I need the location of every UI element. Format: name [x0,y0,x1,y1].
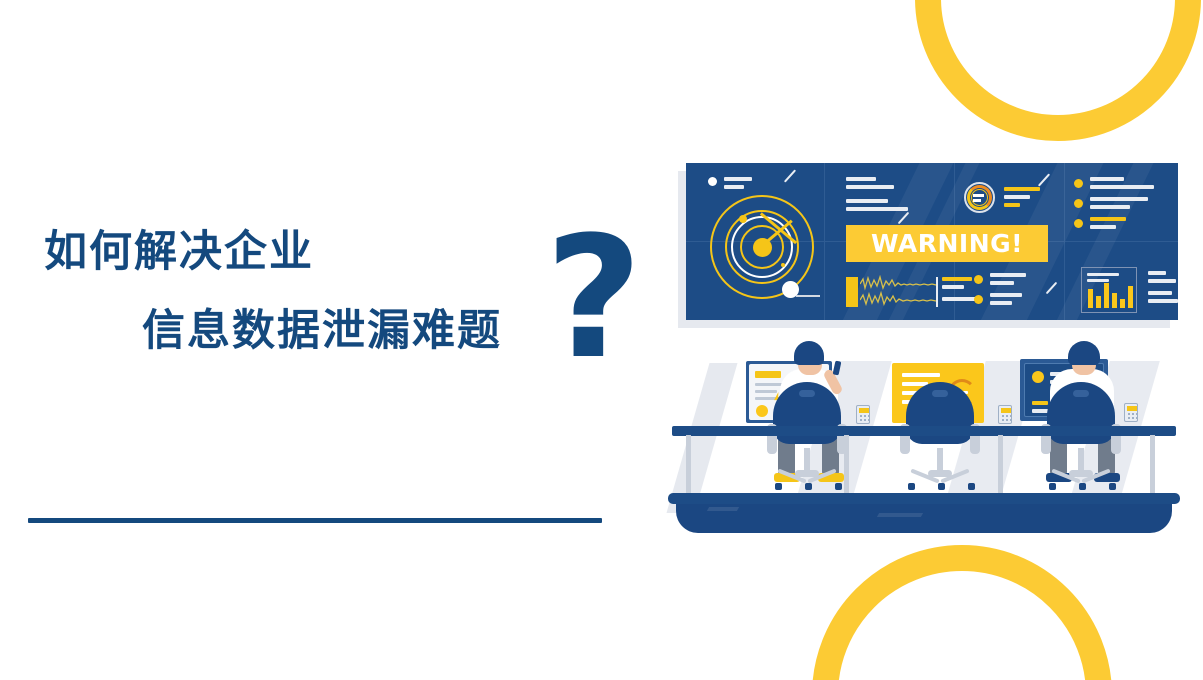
list-line [990,293,1022,297]
chart-side-line [1148,271,1166,275]
text-line [846,185,894,189]
wave-line [942,297,976,301]
text-line [846,177,876,181]
monitor-dot-icon [1032,371,1044,383]
wave-line [942,285,964,289]
list-line [1090,197,1148,201]
waveform-svg [860,275,938,309]
chair-left [773,382,845,492]
chart-bar [1128,286,1133,308]
gauge-line [1004,187,1040,191]
gauge-line [1004,195,1030,199]
bar-chart-panel [1081,267,1137,313]
chart-side-line [1148,299,1178,303]
chart-side-line [1148,279,1176,283]
monitor-wall: WARNING! [686,163,1178,320]
desk-phone-right [1124,403,1138,422]
chart-bar [1120,299,1125,308]
list-line [1090,185,1154,189]
title-line-2: 信息数据泄漏难题 [142,310,502,353]
chart-bar [1104,283,1109,308]
list-line [990,273,1026,277]
text-line [846,199,888,203]
list-bullet-icon [974,275,983,284]
list-line [990,301,1012,305]
desk-phone-center [998,405,1012,424]
list-line [1090,205,1130,209]
radar-scan-widget [708,185,818,307]
floor-platform-top [668,493,1180,504]
yellow-ring-bottom-right-icon [812,545,1112,680]
desk-phone-left [856,405,870,424]
list-line [1090,177,1124,181]
chair-right [1047,382,1119,492]
chart-bar [1088,289,1093,308]
floor-shadow [666,363,737,513]
chart-title-line [1087,279,1109,282]
warning-banner-text: WARNING! [871,229,1023,258]
question-mark-icon: ? [545,214,642,382]
chart-bar [1096,296,1101,308]
gauge-line [1004,203,1020,207]
chart-bar [1112,293,1117,308]
desk-surface [672,426,1176,436]
header-line [724,177,752,181]
list-bullet-icon [1074,199,1083,208]
title-line-1: 如何解决企业 [44,231,314,274]
security-operations-illustration: WARNING! [668,163,1188,523]
list-bullet-icon [974,295,983,304]
accent-slash [1046,282,1058,294]
wave-line [942,277,972,281]
list-bullet-icon [1074,219,1083,228]
stylus-icon [833,361,842,376]
yellow-ring-top-right-icon [915,0,1201,141]
circular-gauge-icon [964,182,995,213]
list-line [1090,225,1116,229]
warning-banner: WARNING! [846,225,1048,262]
text-line [846,207,908,211]
title-divider [28,518,602,523]
list-line [1090,217,1126,221]
slide-canvas: 如何解决企业 信息数据泄漏难题 ? [0,0,1203,680]
chart-side-line [1148,291,1172,295]
list-bullet-icon [1074,179,1083,188]
monitor-dot-icon [756,405,768,417]
chair-center [906,382,978,492]
chart-title-line [1087,273,1119,276]
accent-slash [784,169,796,182]
list-line [990,281,1014,285]
